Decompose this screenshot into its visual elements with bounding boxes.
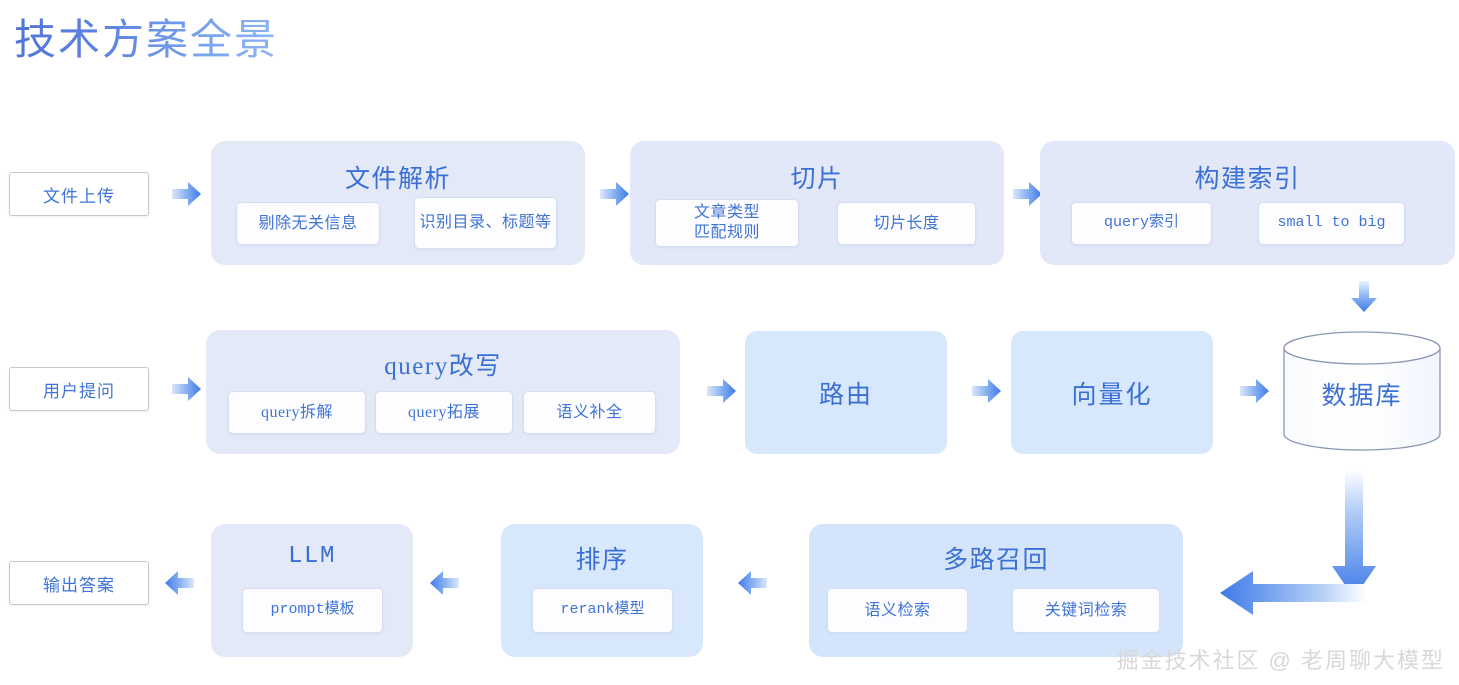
arrow-right-icon <box>600 181 630 207</box>
arrow-right-icon <box>1013 181 1043 207</box>
chip-chunk-length[interactable]: 切片长度 <box>837 202 976 245</box>
chip-small-to-big-label: small to big <box>1277 214 1385 233</box>
arrow-right-icon <box>707 378 737 404</box>
arrow-left-icon <box>430 570 460 596</box>
arrow-right-icon <box>172 376 202 402</box>
chip-semantic-completion-label: 语义补全 <box>556 403 622 423</box>
group-ranking-title: 排序 <box>501 540 703 576</box>
group-multi-path-recall[interactable]: 多路召回 语义检索 关键词检索 <box>809 524 1183 657</box>
chip-semantic-retrieval[interactable]: 语义检索 <box>827 588 968 633</box>
chip-query-decompose[interactable]: query拆解 <box>228 391 366 434</box>
chip-rerank-model[interactable]: rerank模型 <box>532 588 673 633</box>
chip-semantic-retrieval-label: 语义检索 <box>864 601 930 621</box>
entry-output-answer-label: 输出答案 <box>43 571 115 596</box>
arrow-right-icon <box>1240 378 1270 404</box>
group-file-parsing[interactable]: 文件解析 剔除无关信息 识别目录、标题等 <box>211 141 585 265</box>
group-multi-path-recall-title: 多路召回 <box>809 540 1183 576</box>
chip-article-type-match-rule-label: 文章类型 匹配规则 <box>694 203 760 243</box>
group-query-rewrite[interactable]: query改写 query拆解 query拓展 语义补全 <box>206 330 680 454</box>
entry-output-answer[interactable]: 输出答案 <box>9 561 149 605</box>
arrow-right-icon <box>172 181 202 207</box>
chip-remove-irrelevant-info[interactable]: 剔除无关信息 <box>236 202 380 245</box>
chip-query-decompose-label: query拆解 <box>261 403 333 423</box>
block-vectorization-label: 向量化 <box>1071 375 1152 411</box>
group-file-parsing-title: 文件解析 <box>211 159 585 195</box>
chip-keyword-retrieval[interactable]: 关键词检索 <box>1012 588 1160 633</box>
chip-query-index[interactable]: query索引 <box>1071 202 1212 245</box>
group-llm-title: LLM <box>211 543 413 570</box>
database-cylinder-icon[interactable]: 数据库 <box>1282 330 1442 452</box>
chip-article-type-match-rule[interactable]: 文章类型 匹配规则 <box>655 199 799 247</box>
chip-rerank-model-label: rerank模型 <box>560 601 644 620</box>
chip-query-expand-label: query拓展 <box>408 403 480 423</box>
arrow-left-icon <box>738 570 768 596</box>
chip-small-to-big[interactable]: small to big <box>1258 202 1405 245</box>
entry-file-upload[interactable]: 文件上传 <box>9 172 149 216</box>
arrow-down-icon <box>1350 281 1378 313</box>
entry-file-upload-label: 文件上传 <box>43 182 115 207</box>
group-ranking[interactable]: 排序 rerank模型 <box>501 524 703 657</box>
chip-identify-toc-heading[interactable]: 识别目录、标题等 <box>414 197 557 249</box>
block-vectorization[interactable]: 向量化 <box>1011 331 1213 454</box>
group-build-index-title: 构建索引 <box>1040 159 1455 195</box>
block-routing-label: 路由 <box>819 375 873 411</box>
chip-prompt-template-label: prompt模板 <box>270 601 354 620</box>
chip-query-index-label: query索引 <box>1104 214 1179 233</box>
chip-prompt-template[interactable]: prompt模板 <box>242 588 383 633</box>
group-query-rewrite-title: query改写 <box>206 346 680 382</box>
chip-remove-irrelevant-info-label: 剔除无关信息 <box>258 214 357 234</box>
group-llm[interactable]: LLM prompt模板 <box>211 524 413 657</box>
chip-chunk-length-label: 切片长度 <box>873 214 939 234</box>
entry-user-question[interactable]: 用户提问 <box>9 367 149 411</box>
watermark: 掘金技术社区 @ 老周聊大模型 <box>1116 643 1445 675</box>
chip-query-expand[interactable]: query拓展 <box>375 391 513 434</box>
group-build-index[interactable]: 构建索引 query索引 small to big <box>1040 141 1455 265</box>
block-routing[interactable]: 路由 <box>745 331 947 454</box>
entry-user-question-label: 用户提问 <box>43 377 115 402</box>
arrow-right-icon <box>972 378 1002 404</box>
group-chunking-title: 切片 <box>630 159 1004 195</box>
database-label: 数据库 <box>1282 376 1442 412</box>
group-chunking[interactable]: 切片 文章类型 匹配规则 切片长度 <box>630 141 1004 265</box>
chip-semantic-completion[interactable]: 语义补全 <box>523 391 656 434</box>
chip-keyword-retrieval-label: 关键词检索 <box>1045 601 1128 621</box>
page-title: 技术方案全景 <box>14 6 278 67</box>
chip-identify-toc-heading-label: 识别目录、标题等 <box>419 213 551 233</box>
arrow-left-icon <box>1219 570 1367 616</box>
arrow-left-icon <box>165 570 195 596</box>
